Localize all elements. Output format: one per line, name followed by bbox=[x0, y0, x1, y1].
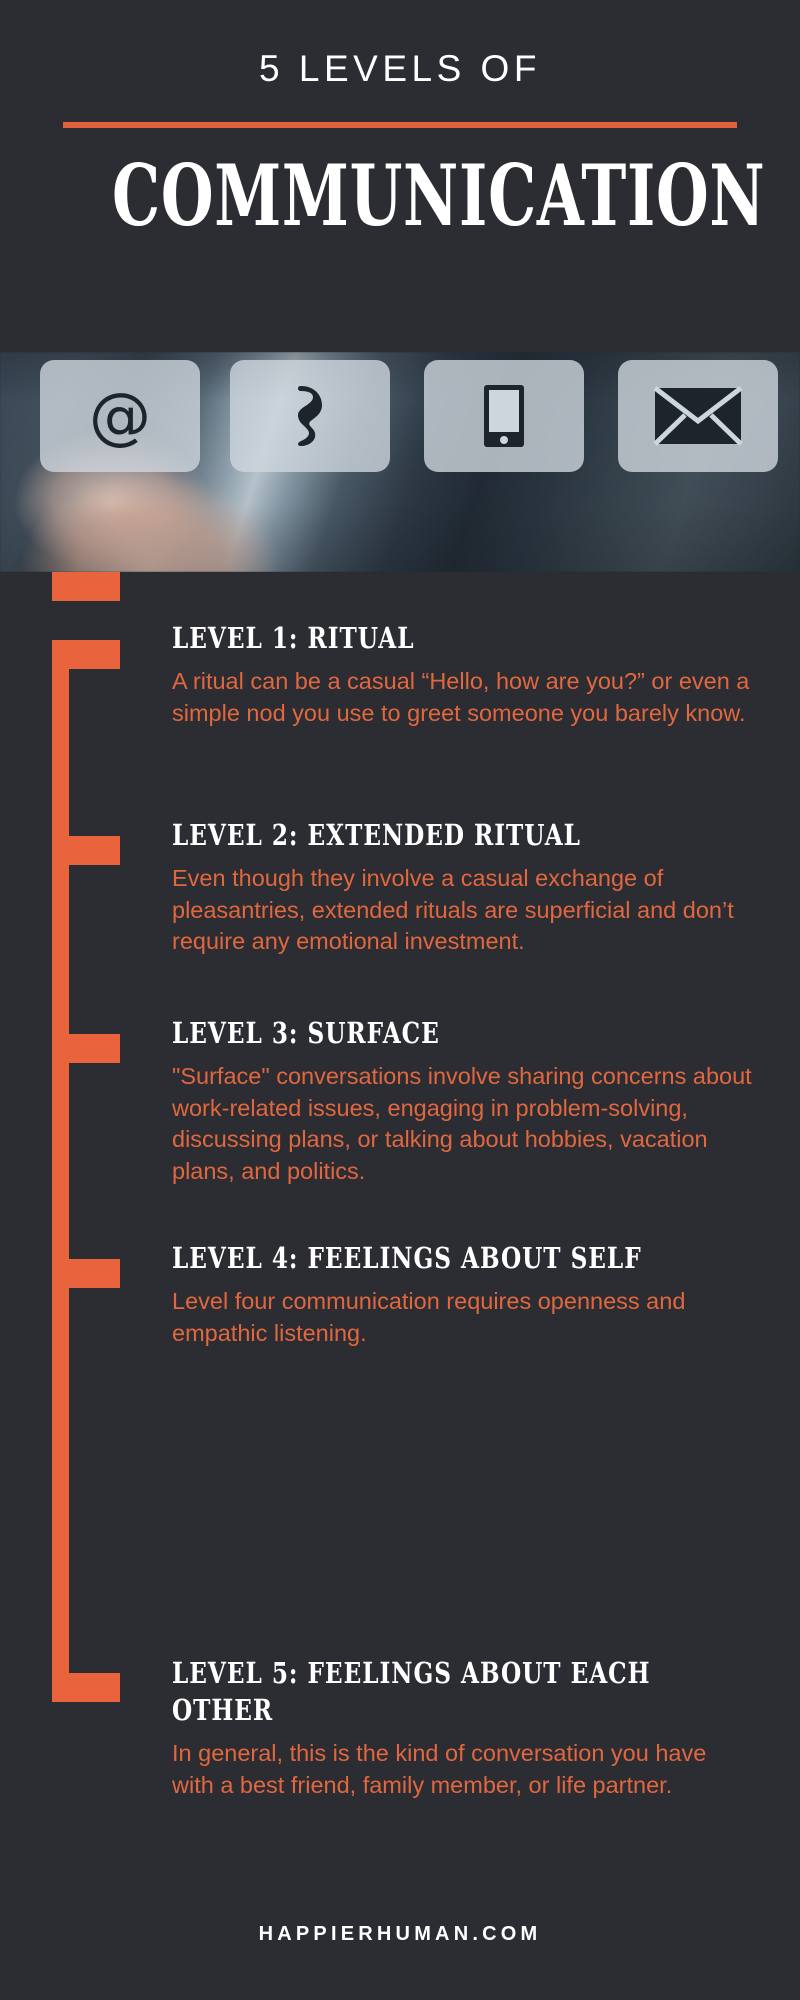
icon-tile-telephone[interactable] bbox=[230, 360, 390, 472]
bracket-tick-level-1 bbox=[52, 640, 120, 669]
bracket-tick-level-5 bbox=[52, 1673, 120, 1702]
envelope-icon bbox=[653, 385, 743, 447]
page-title: COMMUNICATION bbox=[112, 152, 688, 240]
bracket-spine bbox=[52, 640, 69, 1702]
level-item-5: LEVEL 5: FEELINGS ABOUT EACH OTHER In ge… bbox=[172, 1655, 752, 1801]
icon-tile-email-address[interactable]: @ bbox=[40, 360, 200, 472]
level-1-body: A ritual can be a casual “Hello, how are… bbox=[172, 666, 752, 729]
bracket-tick-level-3-spacer bbox=[52, 572, 120, 601]
bracket-tick-level-2 bbox=[52, 836, 120, 865]
level-2-body: Even though they involve a casual exchan… bbox=[172, 863, 752, 957]
header-divider-rule bbox=[63, 122, 737, 128]
level-item-1: LEVEL 1: RITUAL A ritual can be a casual… bbox=[172, 620, 752, 729]
level-3-title: LEVEL 3: SURFACE bbox=[172, 1015, 752, 1052]
icon-tile-mail[interactable] bbox=[618, 360, 778, 472]
infographic-page: 5 LEVELS OF COMMUNICATION @ bbox=[0, 0, 800, 2000]
icon-tile-row: @ bbox=[0, 352, 800, 572]
footer-site-url[interactable]: HAPPIERHUMAN.COM bbox=[0, 1923, 800, 1946]
levels-section: LEVEL 1: RITUAL A ritual can be a casual… bbox=[0, 572, 800, 2000]
level-item-2: LEVEL 2: EXTENDED RITUAL Even though the… bbox=[172, 817, 752, 958]
level-1-title: LEVEL 1: RITUAL bbox=[172, 620, 752, 657]
level-5-title: LEVEL 5: FEELINGS ABOUT EACH OTHER bbox=[172, 1655, 752, 1729]
smartphone-icon bbox=[481, 383, 527, 449]
level-4-title: LEVEL 4: FEELINGS ABOUT SELF bbox=[172, 1240, 752, 1277]
level-5-body: In general, this is the kind of conversa… bbox=[172, 1738, 752, 1801]
level-item-3: LEVEL 3: SURFACE "Surface" conversations… bbox=[172, 1015, 752, 1187]
header-section: 5 LEVELS OF COMMUNICATION bbox=[0, 0, 800, 352]
phone-icon bbox=[290, 383, 330, 449]
level-item-4: LEVEL 4: FEELINGS ABOUT SELF Level four … bbox=[172, 1240, 752, 1349]
bracket-tick-level-4 bbox=[52, 1259, 120, 1288]
header-kicker: 5 LEVELS OF bbox=[0, 48, 800, 90]
level-2-title: LEVEL 2: EXTENDED RITUAL bbox=[172, 817, 752, 854]
level-4-body: Level four communication requires openne… bbox=[172, 1286, 752, 1349]
bracket-tick-level-3 bbox=[52, 1034, 120, 1063]
icon-tile-smartphone[interactable] bbox=[424, 360, 584, 472]
at-sign-icon: @ bbox=[89, 385, 151, 447]
level-3-body: "Surface" conversations involve sharing … bbox=[172, 1061, 752, 1187]
photo-banner: @ bbox=[0, 352, 800, 572]
